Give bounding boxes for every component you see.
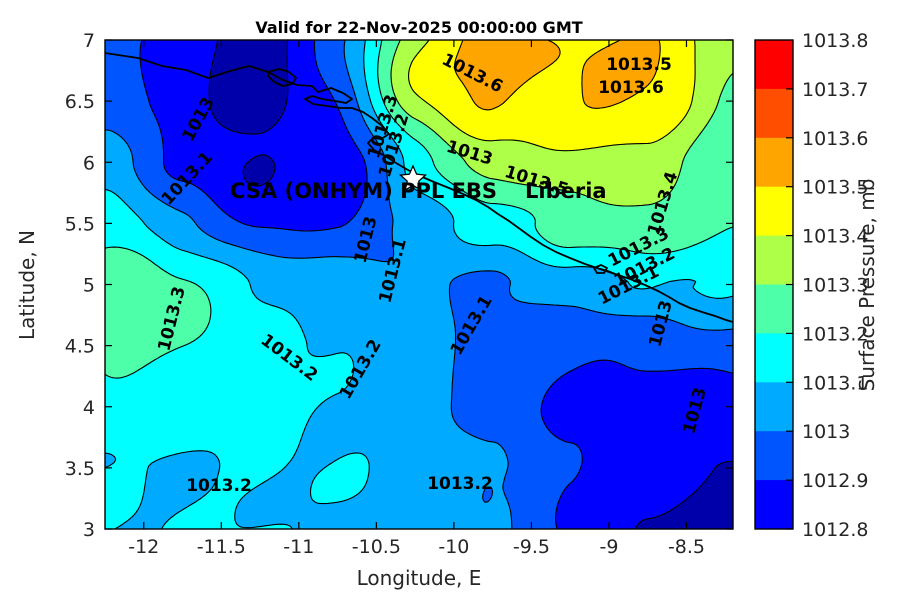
x-axis-label: Longitude, E <box>357 566 482 590</box>
y-tick-label: 6 <box>83 152 95 174</box>
page-title: Valid for 22-Nov-2025 00:00:00 GMT <box>255 18 582 37</box>
x-tick-label: -12 <box>128 536 159 558</box>
colorbar-swatch <box>755 431 793 480</box>
x-tick-label: -10 <box>438 536 469 558</box>
y-tick-label: 3.5 <box>65 458 95 480</box>
colorbar-label: Surface Pressure, mb <box>855 179 879 392</box>
colorbar-swatch <box>755 382 793 431</box>
colorbar-tick-label: 1012.8 <box>802 519 868 541</box>
contour-label: 1013.2 <box>186 476 252 496</box>
x-tick-label: -10.5 <box>352 536 401 558</box>
colorbar-tick-label: 1013.6 <box>802 128 868 150</box>
colorbar-tick-label: 1012.9 <box>802 470 868 492</box>
site-label: CSA (ONHYM) PPL EBS <box>230 179 497 203</box>
contour-figure: Valid for 22-Nov-2025 00:00:00 GMT 1013.… <box>0 0 900 600</box>
x-tick-label: -8.5 <box>668 536 705 558</box>
x-tick-label: -9 <box>599 536 618 558</box>
contour-label: 1013.2 <box>427 474 493 494</box>
colorbar-swatch <box>755 187 793 236</box>
x-tick-label: -11 <box>283 536 314 558</box>
y-tick-label: 7 <box>83 30 95 52</box>
colorbar-swatch <box>755 333 793 382</box>
x-tick-label: -11.5 <box>197 536 246 558</box>
colorbar-swatch <box>755 138 793 187</box>
y-tick-label: 4 <box>83 397 95 419</box>
y-tick-label: 3 <box>83 519 95 541</box>
colorbar-swatch <box>755 285 793 334</box>
colorbar-swatch <box>755 236 793 285</box>
x-tick-label: -9.5 <box>513 536 550 558</box>
colorbar-swatch <box>755 89 793 138</box>
contour-label: 1013.5 <box>606 55 672 75</box>
y-axis-label: Latitude, N <box>15 230 39 340</box>
y-tick-label: 6.5 <box>65 91 95 113</box>
figure-root: Valid for 22-Nov-2025 00:00:00 GMT 1013.… <box>0 0 900 600</box>
colorbar-swatch <box>755 480 793 529</box>
colorbar-swatch <box>755 40 793 89</box>
colorbar-tick-label: 1013 <box>802 421 850 443</box>
contour-label: 1013.6 <box>598 78 664 98</box>
colorbar-tick-label: 1013.7 <box>802 79 868 101</box>
y-tick-label: 5 <box>83 275 95 297</box>
y-tick-label: 4.5 <box>65 336 95 358</box>
country-label: Liberia <box>525 179 607 203</box>
y-tick-label: 5.5 <box>65 213 95 235</box>
colorbar-tick-label: 1013.8 <box>802 30 868 52</box>
